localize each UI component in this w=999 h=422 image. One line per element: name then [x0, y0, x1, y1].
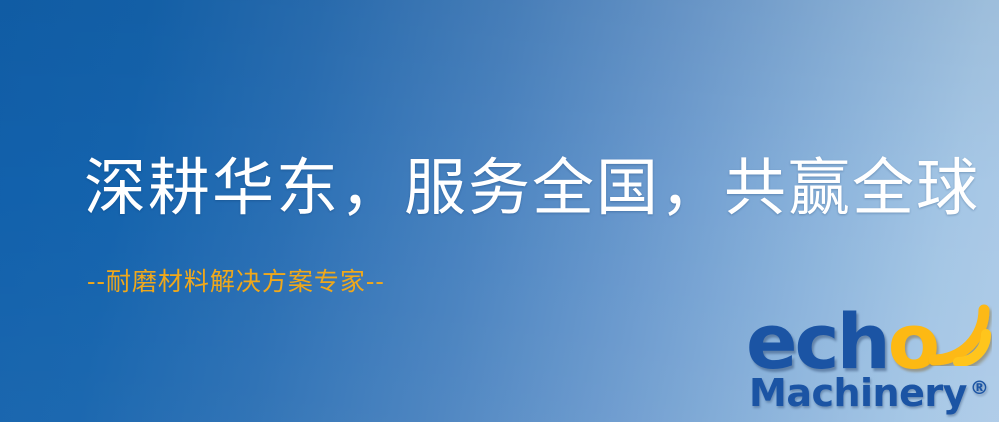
- echo-waves-icon: [928, 304, 992, 366]
- promotional-banner: 深耕华东，服务全国，共赢全球 --耐磨材料解决方案专家-- echo Machi…: [0, 0, 999, 422]
- echo-machinery-logo[interactable]: echo Machinery®: [746, 296, 994, 418]
- logo-tagline: Machinery®: [749, 366, 989, 415]
- registered-trademark-icon: ®: [970, 377, 989, 399]
- logo-tagline-text: Machinery: [749, 371, 967, 415]
- banner-headline: 深耕华东，服务全国，共赢全球: [84, 152, 980, 224]
- banner-subtitle: --耐磨材料解决方案专家--: [87, 266, 385, 298]
